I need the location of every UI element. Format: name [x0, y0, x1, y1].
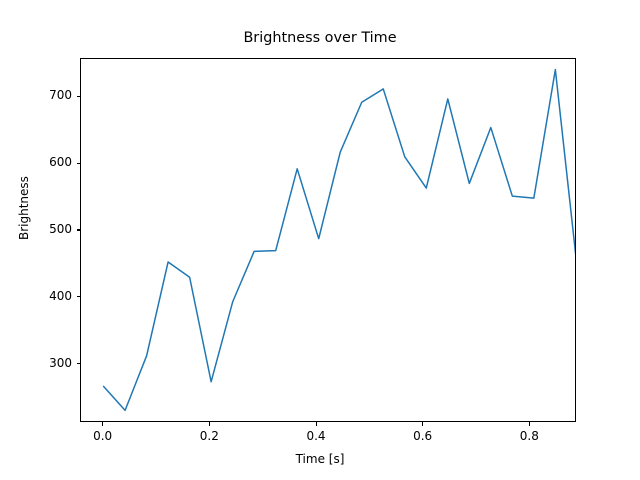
x-tick-mark	[316, 422, 317, 426]
y-tick-mark	[77, 363, 81, 364]
x-tick-mark	[422, 422, 423, 426]
x-tick-mark	[529, 422, 530, 426]
matplotlib-figure: Brightness over Time 300400500600700 0.0…	[0, 0, 640, 480]
line-chart-svg	[81, 59, 575, 421]
y-tick-mark	[77, 96, 81, 97]
y-tick-label: 300	[49, 356, 72, 370]
data-series-line	[104, 70, 575, 411]
x-axis-label: Time [s]	[0, 452, 640, 466]
y-axis-label: Brightness	[17, 176, 31, 240]
plot-axes	[80, 58, 576, 422]
x-tick-label: 0.4	[286, 429, 346, 443]
x-tick-label: 0.8	[499, 429, 559, 443]
x-tick-mark	[102, 422, 103, 426]
y-tick-mark	[77, 163, 81, 164]
y-tick-mark	[77, 296, 81, 297]
y-tick-mark	[77, 229, 81, 230]
x-tick-label: 0.6	[393, 429, 453, 443]
y-tick-label: 500	[49, 222, 72, 236]
y-tick-label: 600	[49, 155, 72, 169]
page-title: Brightness over Time	[0, 30, 640, 46]
x-tick-label: 0.0	[73, 429, 133, 443]
y-tick-label: 700	[49, 88, 72, 102]
y-tick-label: 400	[49, 289, 72, 303]
y-axis-label-wrap: Brightness	[30, 0, 50, 480]
x-tick-mark	[209, 422, 210, 426]
x-tick-label: 0.2	[179, 429, 239, 443]
